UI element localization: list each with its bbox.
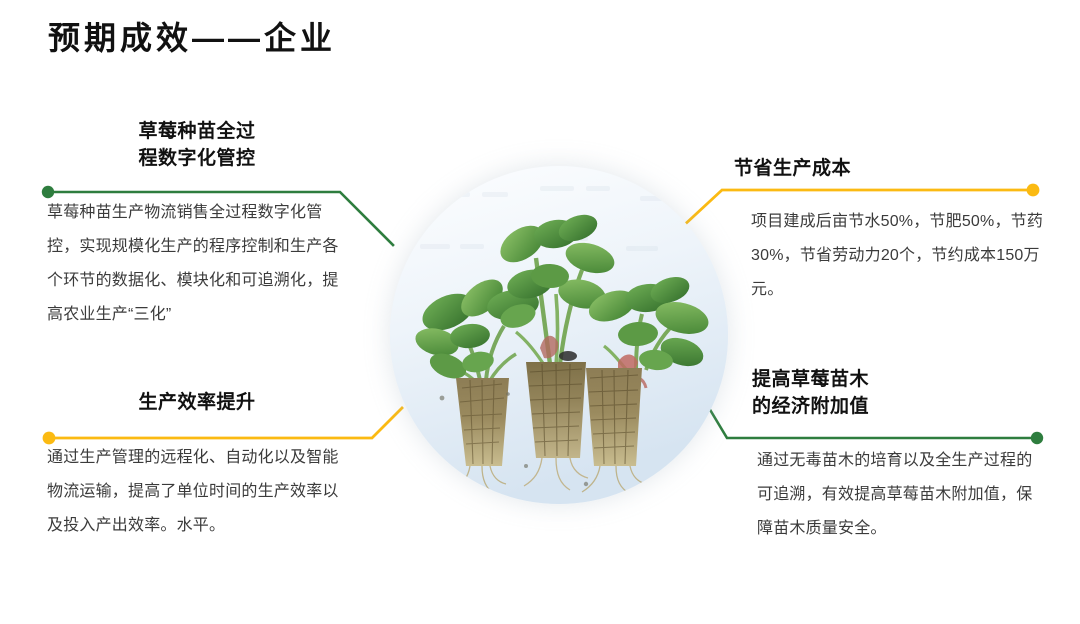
feature-body-top-right: 项目建成后亩节水50%，节肥50%，节药30%，节省劳动力20个，节约成本150…	[751, 205, 1051, 307]
feature-heading-line-1: 草莓种苗全过	[138, 121, 255, 142]
feature-heading-bottom-right: 提高草莓苗木 的经济附加值	[752, 366, 1052, 420]
feature-heading-top-right: 节省生产成本	[734, 155, 1040, 182]
feature-block-bottom-left: 生产效率提升 通过生产管理的远程化、自动化以及智能物流运输，提高了单位时间的生产…	[47, 389, 347, 543]
strawberry-seedlings-photo	[390, 166, 728, 504]
feature-block-bottom-right: 提高草莓苗木 的经济附加值 通过无毒苗木的培育以及全生产过程的可追溯，有效提高草…	[752, 366, 1052, 546]
feature-heading-bottom-left: 生产效率提升	[47, 389, 347, 416]
feature-heading-top-left: 草莓种苗全过 程数字化管控	[47, 118, 347, 172]
slide-canvas: 预期成效——企业	[0, 0, 1080, 624]
seedlings-illustration	[390, 166, 728, 504]
feature-heading-line-2: 程数字化管控	[138, 148, 255, 169]
feature-block-top-right: 节省生产成本 项目建成后亩节水50%，节肥50%，节药30%，节省劳动力20个，…	[734, 155, 1040, 307]
feature-body-top-left: 草莓种苗生产物流销售全过程数字化管控，实现规模化生产的程序控制和生产各个环节的数…	[47, 196, 343, 332]
feature-heading-line-2: 的经济附加值	[752, 396, 869, 417]
feature-block-top-left: 草莓种苗全过 程数字化管控 草莓种苗生产物流销售全过程数字化管控，实现规模化生产…	[47, 118, 347, 332]
feature-body-bottom-left: 通过生产管理的远程化、自动化以及智能物流运输，提高了单位时间的生产效率以及投入产…	[47, 441, 343, 543]
feature-heading-line-1: 提高草莓苗木	[752, 369, 869, 390]
feature-body-bottom-right: 通过无毒苗木的培育以及全生产过程的可追溯，有效提高草莓苗木附加值，保障苗木质量安…	[757, 444, 1045, 546]
